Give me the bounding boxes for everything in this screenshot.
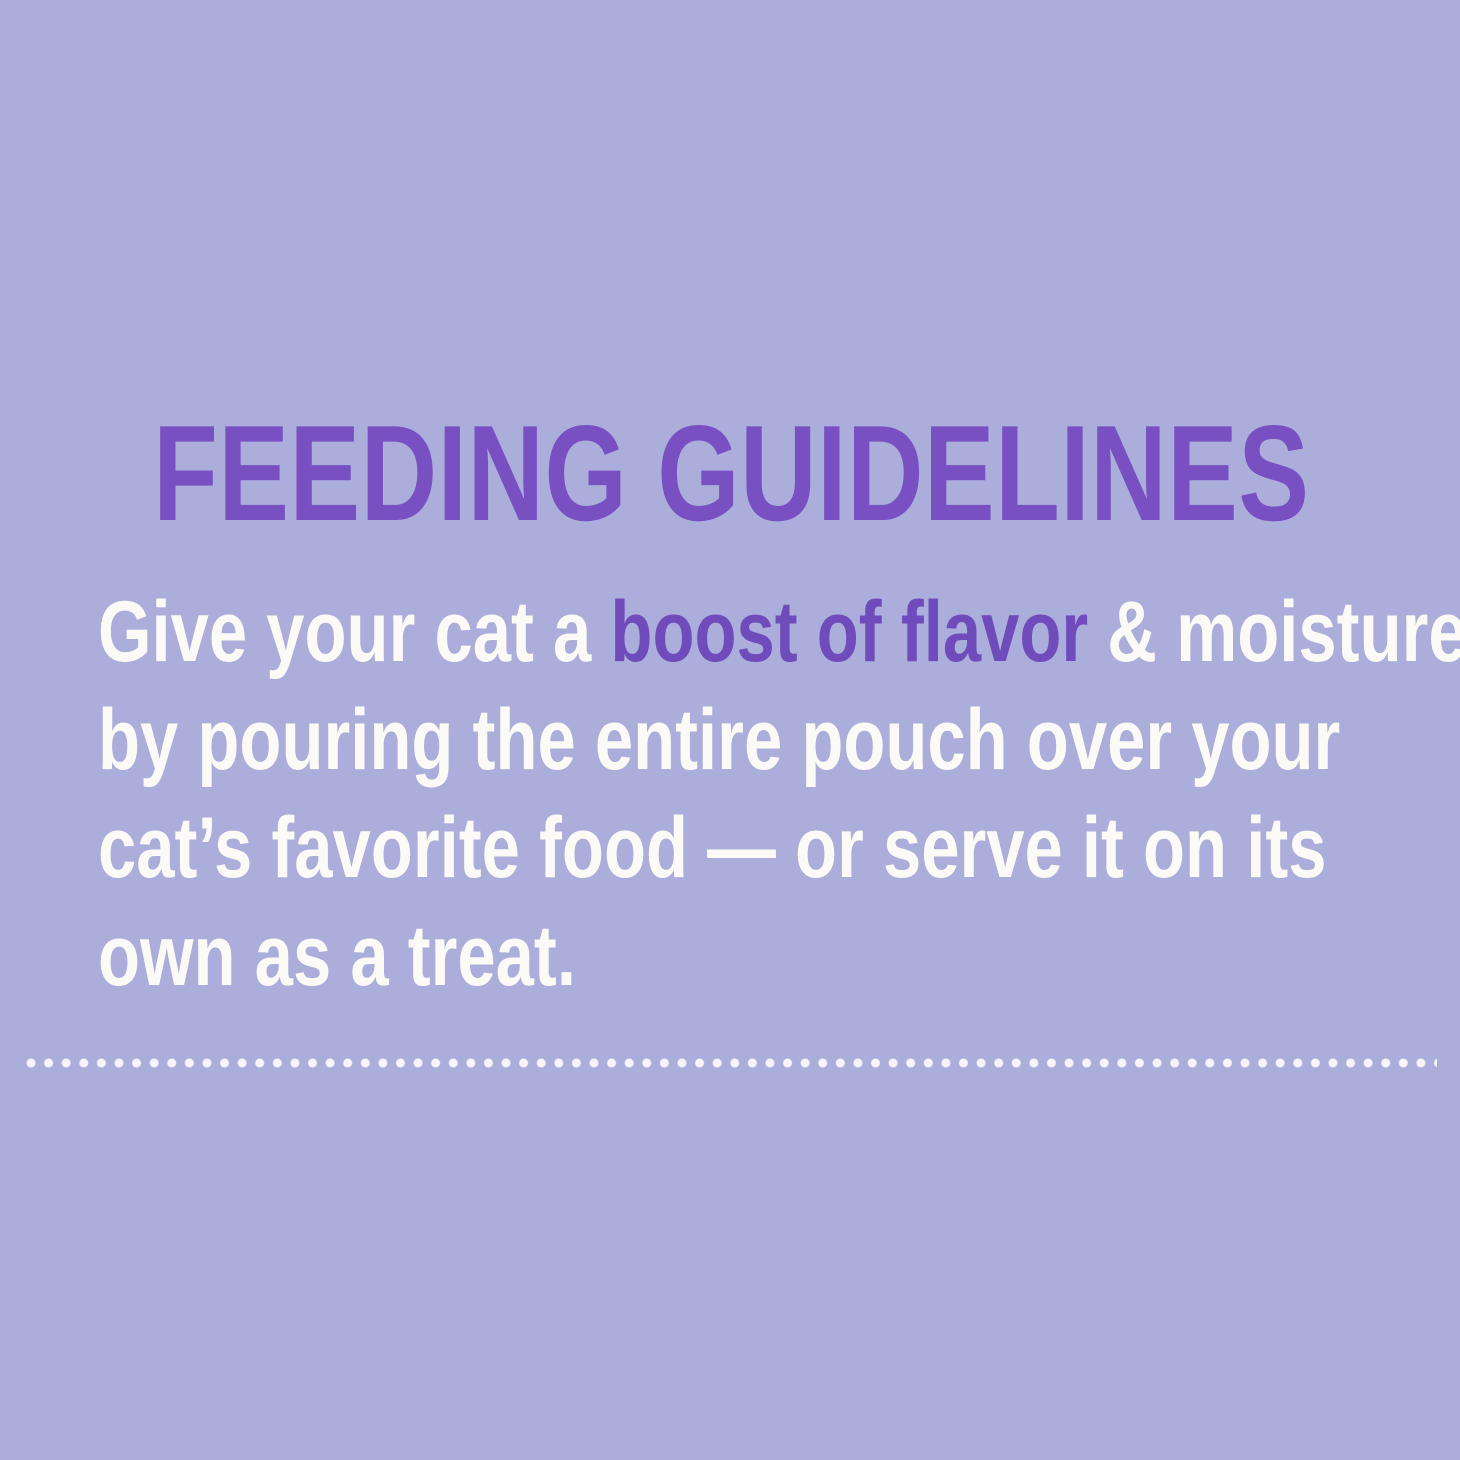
feeding-guidelines-panel: FEEDING GUIDELINES Give your cat a boost… xyxy=(0,0,1460,1460)
copy-line-1-accent: boost of flavor xyxy=(610,584,1088,680)
copy-line-2: by pouring the entire pouch over your xyxy=(98,686,1154,794)
copy-line-4: own as a treat. xyxy=(98,902,1154,1010)
heading-row: FEEDING GUIDELINES xyxy=(0,400,1460,540)
copy-line-1-pre: Give your cat a xyxy=(98,584,610,680)
copy-line-1-post: & moisture xyxy=(1088,584,1460,680)
dotted-rule-bottom-icon xyxy=(25,1056,1437,1070)
copy-line-1: Give your cat a boost of flavor & moistu… xyxy=(98,578,1154,686)
body-copy: Give your cat a boost of flavor & moistu… xyxy=(98,578,1418,1010)
copy-line-3: cat’s favorite food — or serve it on its xyxy=(98,794,1154,902)
page-title: FEEDING GUIDELINES xyxy=(153,399,1309,541)
